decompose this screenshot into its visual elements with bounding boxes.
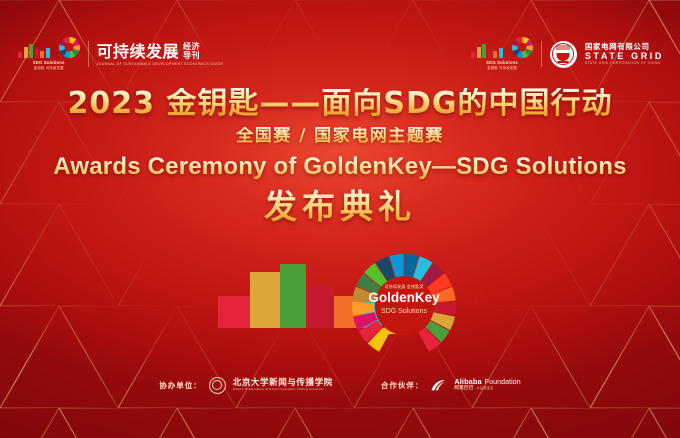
partner-group: 合作伙伴： Alibaba Foundation 阿里巴巴 公益基金会 <box>381 378 521 392</box>
english-title: Awards Ceremony of GoldenKey—SDG Solutio… <box>0 154 680 180</box>
state-grid-emblem-icon <box>550 41 577 68</box>
sdg-color-wheel-icon-right <box>512 37 533 58</box>
key-tooth-0 <box>218 296 240 328</box>
partner-label: 合作伙伴： <box>381 380 424 391</box>
emblem-brand-sub: SDG Solutions <box>381 308 427 315</box>
main-title: 2023 金钥匙——面向SDG的中国行动 <box>0 88 680 120</box>
sub-title: 全国赛 / 国家电网主题赛 <box>0 127 680 146</box>
key-tooth-3 <box>306 286 334 300</box>
partner-brand: Alibaba <box>454 378 481 385</box>
coorganizer-name-en: School of Journalism and Communication, … <box>233 388 333 391</box>
state-grid-en: STATE GRID <box>585 52 664 61</box>
header-logo-bar: SDG Solutions 金钥匙 可持续发展 可持续发展 经济 导刊 JOUR… <box>0 32 680 76</box>
footer-partners: 协办单位： 北京大学新闻与传播学院 School of Journalism a… <box>0 372 680 398</box>
left-brand-cn: 可持续发展 <box>97 44 180 60</box>
sdg-mark-caption: SDG Solutions 金钥匙 可持续发展 <box>33 60 65 71</box>
sdg-solutions-mark-icon: SDG Solutions 金钥匙 可持续发展 <box>18 37 80 71</box>
key-tooth-2 <box>280 264 306 298</box>
left-brand-en: JOURNAL OF SUSTAINABLE DEVELOPMENT ECONO… <box>97 62 224 66</box>
emblem-tagline: 可持续发展 金钥匙奖 <box>384 283 424 290</box>
right-logo-group: SDG Solutions 金钥匙 可持续发展 国家电网有限公司 STATE G… <box>471 32 664 76</box>
sdg-key-bars-icon-right <box>471 43 503 58</box>
coorganizer-name-cn: 北京大学新闻与传播学院 <box>233 379 333 388</box>
partner-name-cn: 阿里巴巴 <box>454 387 473 392</box>
state-grid-brand-text: 国家电网有限公司 STATE GRID STATE GRID CORPORATI… <box>585 43 664 65</box>
left-brand-text: 可持续发展 经济 导刊 JOURNAL OF SUSTAINABLE DEVEL… <box>97 42 224 66</box>
left-brand-cn-secondary: 经济 导刊 <box>183 42 200 60</box>
key-tooth-1 <box>250 272 280 298</box>
coorganizer-group: 协办单位： 北京大学新闻与传播学院 School of Journalism a… <box>159 377 333 394</box>
coorganizer-label: 协办单位： <box>159 380 202 391</box>
logo-divider-right <box>541 41 542 67</box>
title-block: 2023 金钥匙——面向SDG的中国行动 全国赛 / 国家电网主题赛 Award… <box>0 88 680 225</box>
sdg-solutions-mark-icon-right: SDG Solutions 金钥匙 可持续发展 <box>471 37 533 71</box>
ceremony-title: 发布典礼 <box>0 189 680 225</box>
peking-university-seal-icon <box>209 377 226 394</box>
goldenkey-emblem: 可持续发展 金钥匙奖 GoldenKey SDG Solutions <box>208 250 473 362</box>
emblem-brand: GoldenKey <box>368 290 440 305</box>
alibaba-logo-icon <box>430 379 447 392</box>
logo-divider <box>88 41 89 67</box>
poster-canvas: SDG Solutions 金钥匙 可持续发展 可持续发展 经济 导刊 JOUR… <box>0 0 680 438</box>
sdg-key-bars-icon <box>18 43 50 58</box>
state-grid-cn: 国家电网有限公司 <box>585 43 664 51</box>
partner-name-cn-sub: 公益基金会 <box>477 387 494 390</box>
left-logo-group: SDG Solutions 金钥匙 可持续发展 可持续发展 经济 导刊 JOUR… <box>18 32 223 76</box>
state-grid-en-sub: STATE GRID CORPORATION OF CHINA <box>585 62 664 65</box>
sdg-color-wheel-icon <box>59 37 80 58</box>
state-grid-rays-icon <box>557 45 570 50</box>
sdg-mark-caption-right: SDG Solutions 金钥匙 可持续发展 <box>486 60 518 71</box>
